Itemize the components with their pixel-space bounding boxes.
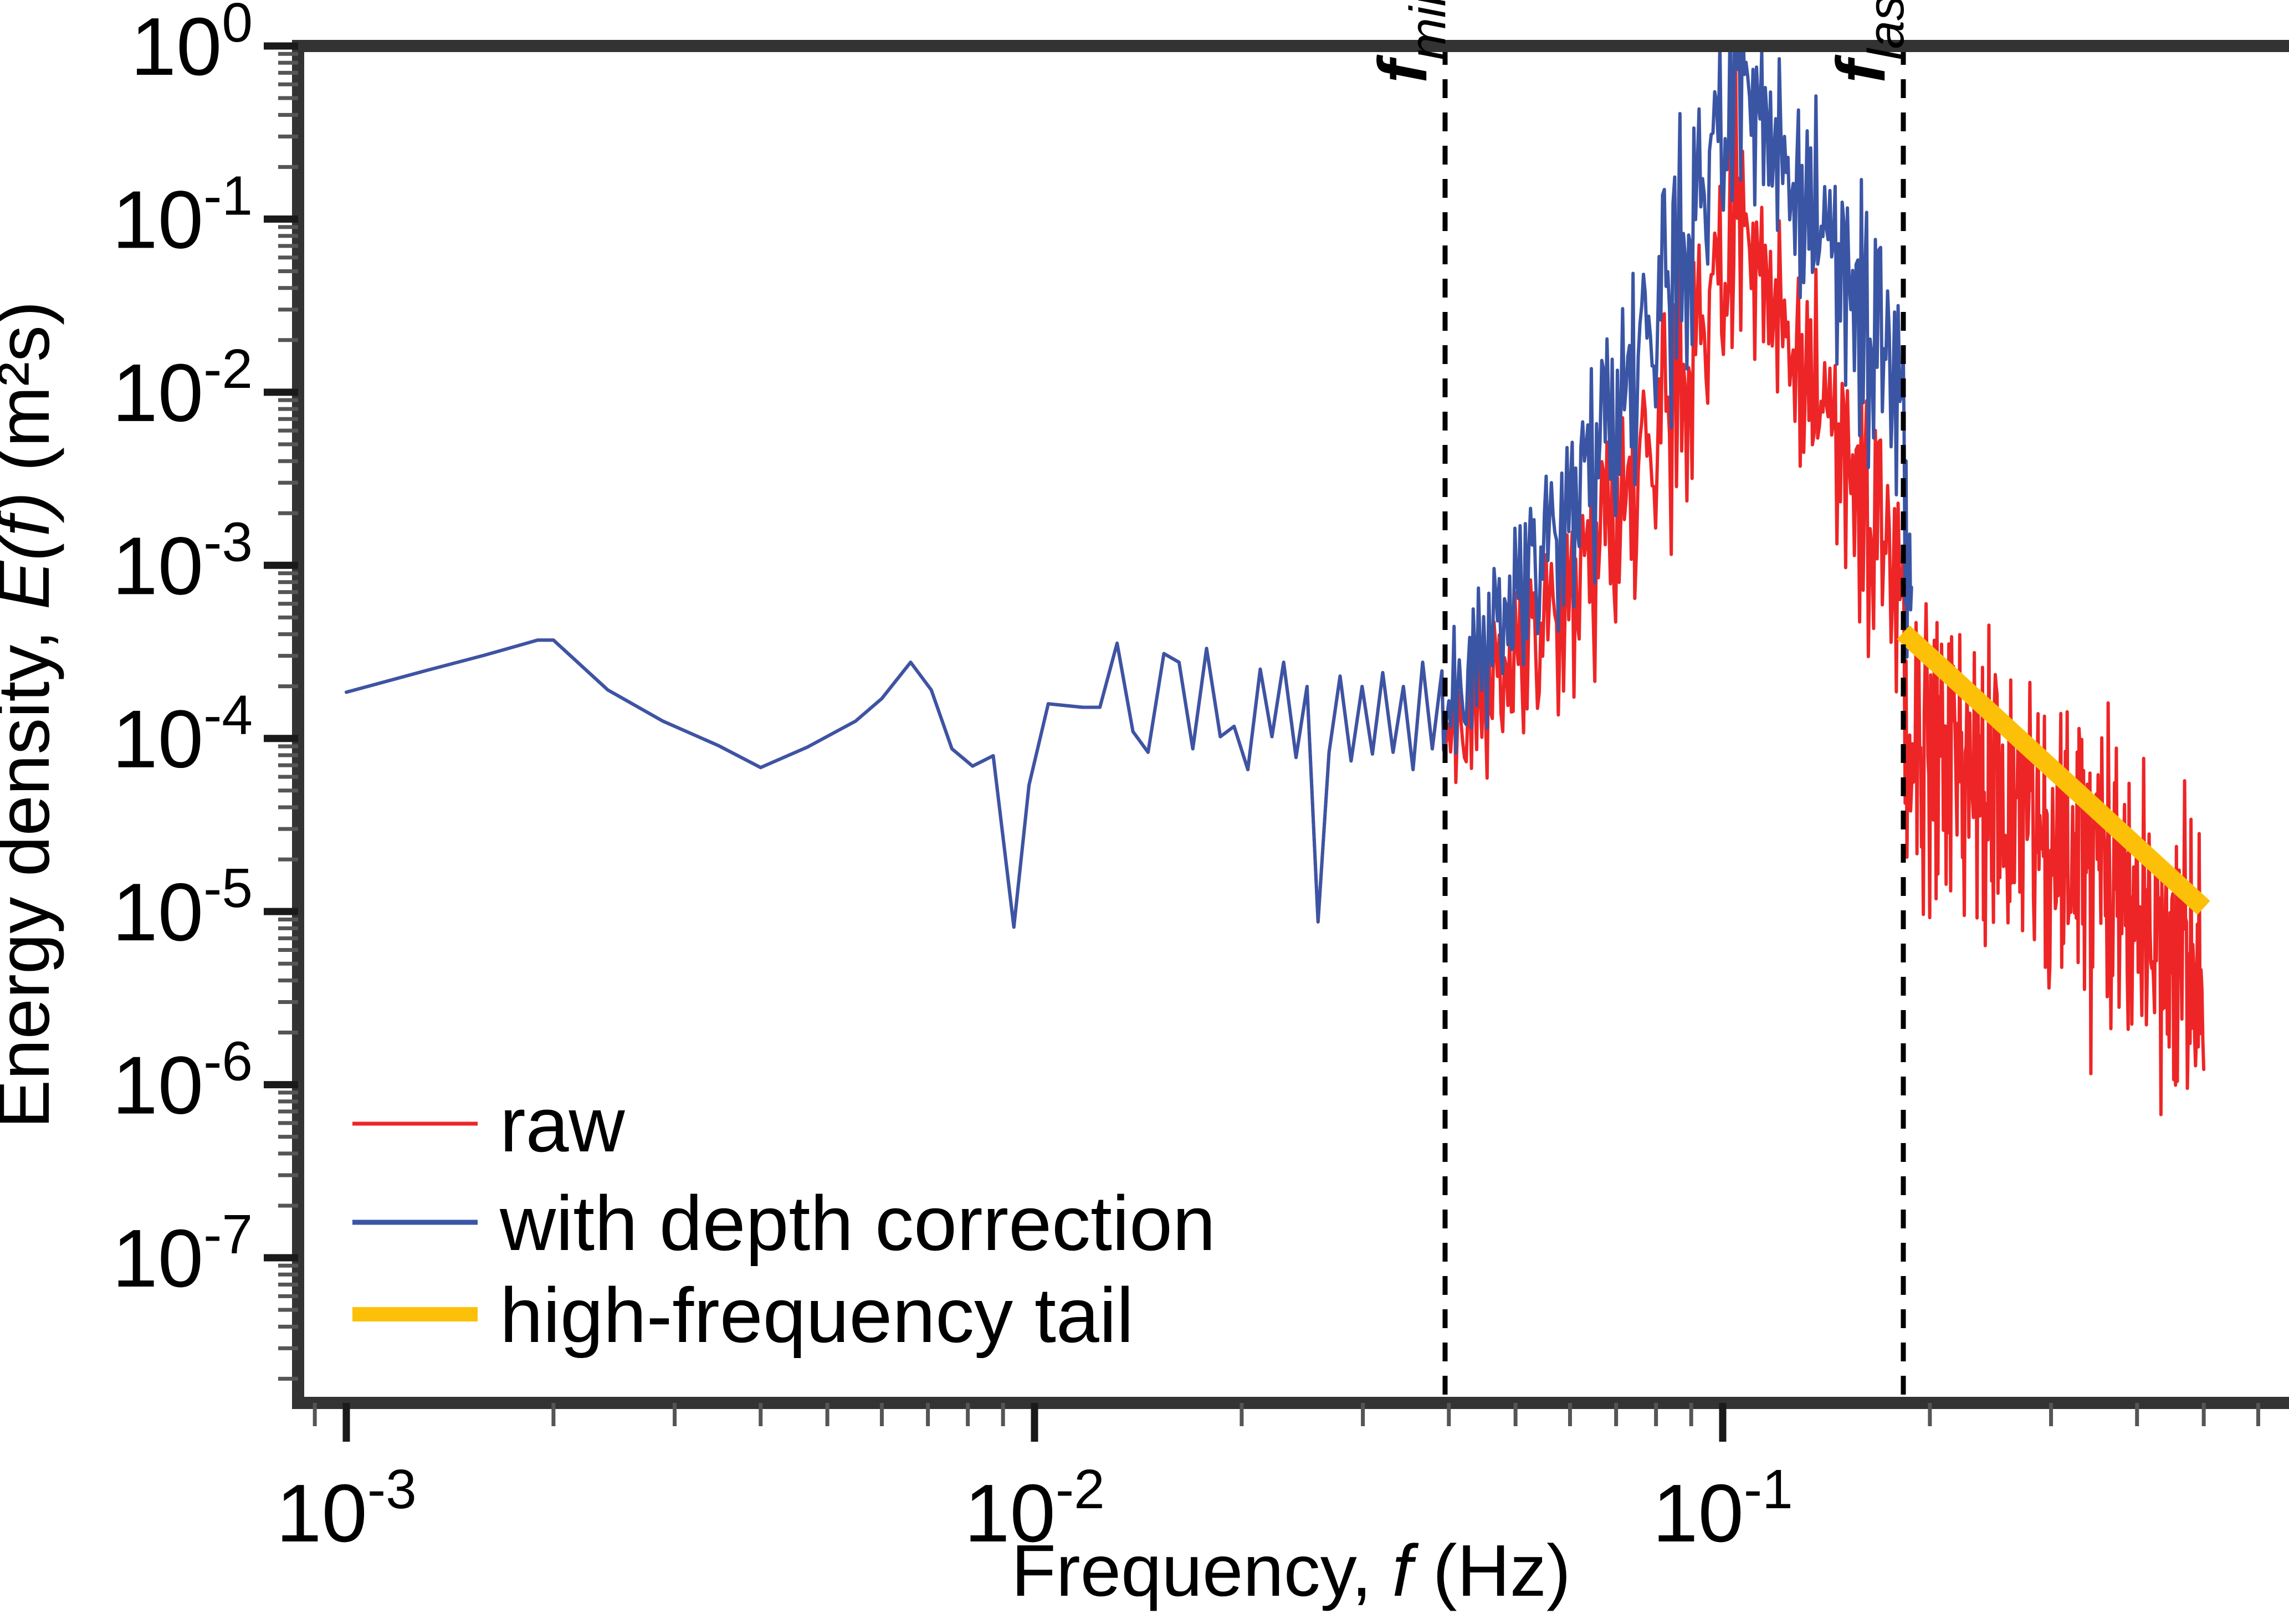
y-tick-label: 10-4	[112, 684, 253, 785]
legend-label-1: with depth correction	[499, 1180, 1216, 1267]
y-tick-label: 100	[131, 0, 253, 93]
x-axis-title: Frequency, f (Hz)	[1011, 1530, 1571, 1611]
y-tick-label: 10-1	[112, 165, 253, 265]
y-axis-title: Energy density, E(f) (m²s)	[0, 301, 64, 1129]
x-tick-label: 10-1	[1652, 1458, 1793, 1559]
x-tick-label: 10-3	[276, 1458, 417, 1559]
energy-density-spectrum-chart: 10-310-210-1 10010-110-210-310-410-510-6…	[0, 0, 2289, 1624]
legend-label-2: high-frequency tail	[500, 1272, 1134, 1359]
y-axis-tick-labels: 10010-110-210-310-410-510-610-7	[112, 0, 253, 1304]
y-tick-label: 10-7	[112, 1203, 253, 1304]
y-tick-label: 10-2	[112, 338, 253, 439]
y-tick-label: 10-6	[112, 1031, 253, 1131]
y-tick-label: 10-3	[112, 511, 253, 612]
y-tick-label: 10-5	[112, 857, 253, 958]
legend-label-0: raw	[500, 1081, 625, 1168]
spectrum-figure: 10-310-210-1 10010-110-210-310-410-510-6…	[0, 0, 2289, 1624]
